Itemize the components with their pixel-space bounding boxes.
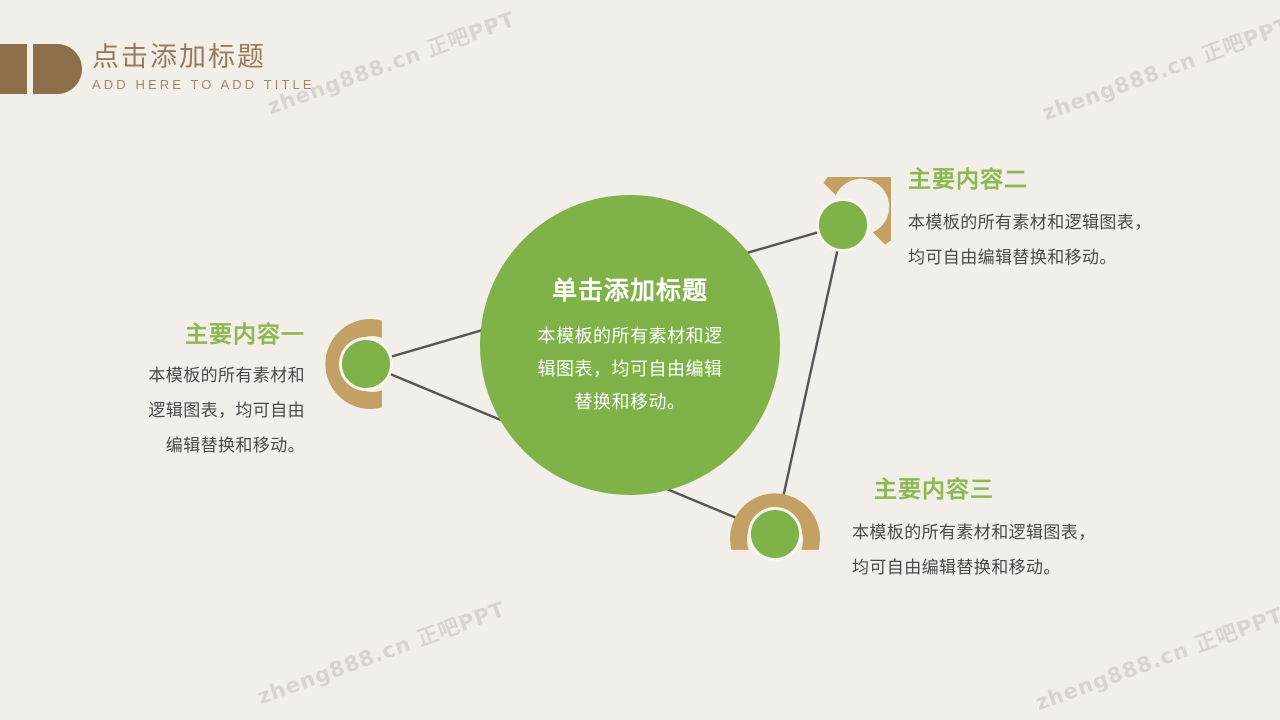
content-three-line-1: 本模板的所有素材和逻辑图表， xyxy=(852,516,1182,551)
center-title: 单击添加标题 xyxy=(552,271,708,307)
node-dot-three xyxy=(748,507,802,561)
content-body-three: 本模板的所有素材和逻辑图表， 均可自由编辑替换和移动。 xyxy=(852,516,1182,586)
node-marker-three[interactable] xyxy=(727,486,823,582)
page-subtitle: ADD HERE TO ADD TITLE xyxy=(92,76,315,93)
page-title: 点击添加标题 xyxy=(92,42,315,74)
header-text-group: 点击添加标题 ADD HERE TO ADD TITLE xyxy=(92,42,315,93)
content-body-two: 本模板的所有素材和逻辑图表， 均可自由编辑替换和移动。 xyxy=(908,206,1238,276)
center-body-line-1: 本模板的所有素材和逻 xyxy=(538,320,723,353)
node-dot-one xyxy=(339,337,393,391)
center-circle[interactable]: 单击添加标题 本模板的所有素材和逻 辑图表，均可自由编辑 替换和移动。 xyxy=(480,195,780,495)
slide-canvas: 单击添加标题 本模板的所有素材和逻 辑图表，均可自由编辑 替换和移动。 xyxy=(0,0,1280,720)
content-block-three[interactable]: 主要内容三 本模板的所有素材和逻辑图表， 均可自由编辑替换和移动。 xyxy=(852,470,1182,586)
content-title-three: 主要内容三 xyxy=(874,470,1182,504)
center-body-line-2: 辑图表，均可自由编辑 xyxy=(538,353,723,386)
content-two-line-2: 均可自由编辑替换和移动。 xyxy=(908,241,1238,276)
brand-mark-square xyxy=(0,44,27,94)
content-one-line-2: 逻辑图表，均可自由 xyxy=(70,394,305,429)
center-body-line-3: 替换和移动。 xyxy=(538,386,723,419)
content-title-one: 主要内容一 xyxy=(70,315,305,349)
node-dot-two xyxy=(816,198,870,252)
content-block-one[interactable]: 主要内容一 本模板的所有素材和 逻辑图表，均可自由 编辑替换和移动。 xyxy=(70,315,305,464)
content-body-one: 本模板的所有素材和 逻辑图表，均可自由 编辑替换和移动。 xyxy=(70,359,305,464)
brand-mark-d-shape xyxy=(33,44,82,94)
center-body: 本模板的所有素材和逻 辑图表，均可自由编辑 替换和移动。 xyxy=(538,320,723,419)
node-marker-two[interactable] xyxy=(795,177,891,273)
content-block-two[interactable]: 主要内容二 本模板的所有素材和逻辑图表， 均可自由编辑替换和移动。 xyxy=(908,160,1238,276)
content-one-line-1: 本模板的所有素材和 xyxy=(70,359,305,394)
content-title-two: 主要内容二 xyxy=(908,160,1238,194)
content-two-line-1: 本模板的所有素材和逻辑图表， xyxy=(908,206,1238,241)
brand-mark-icon xyxy=(0,44,82,94)
content-three-line-2: 均可自由编辑替换和移动。 xyxy=(852,551,1182,586)
node-marker-one[interactable] xyxy=(318,316,414,412)
content-one-line-3: 编辑替换和移动。 xyxy=(70,429,305,464)
